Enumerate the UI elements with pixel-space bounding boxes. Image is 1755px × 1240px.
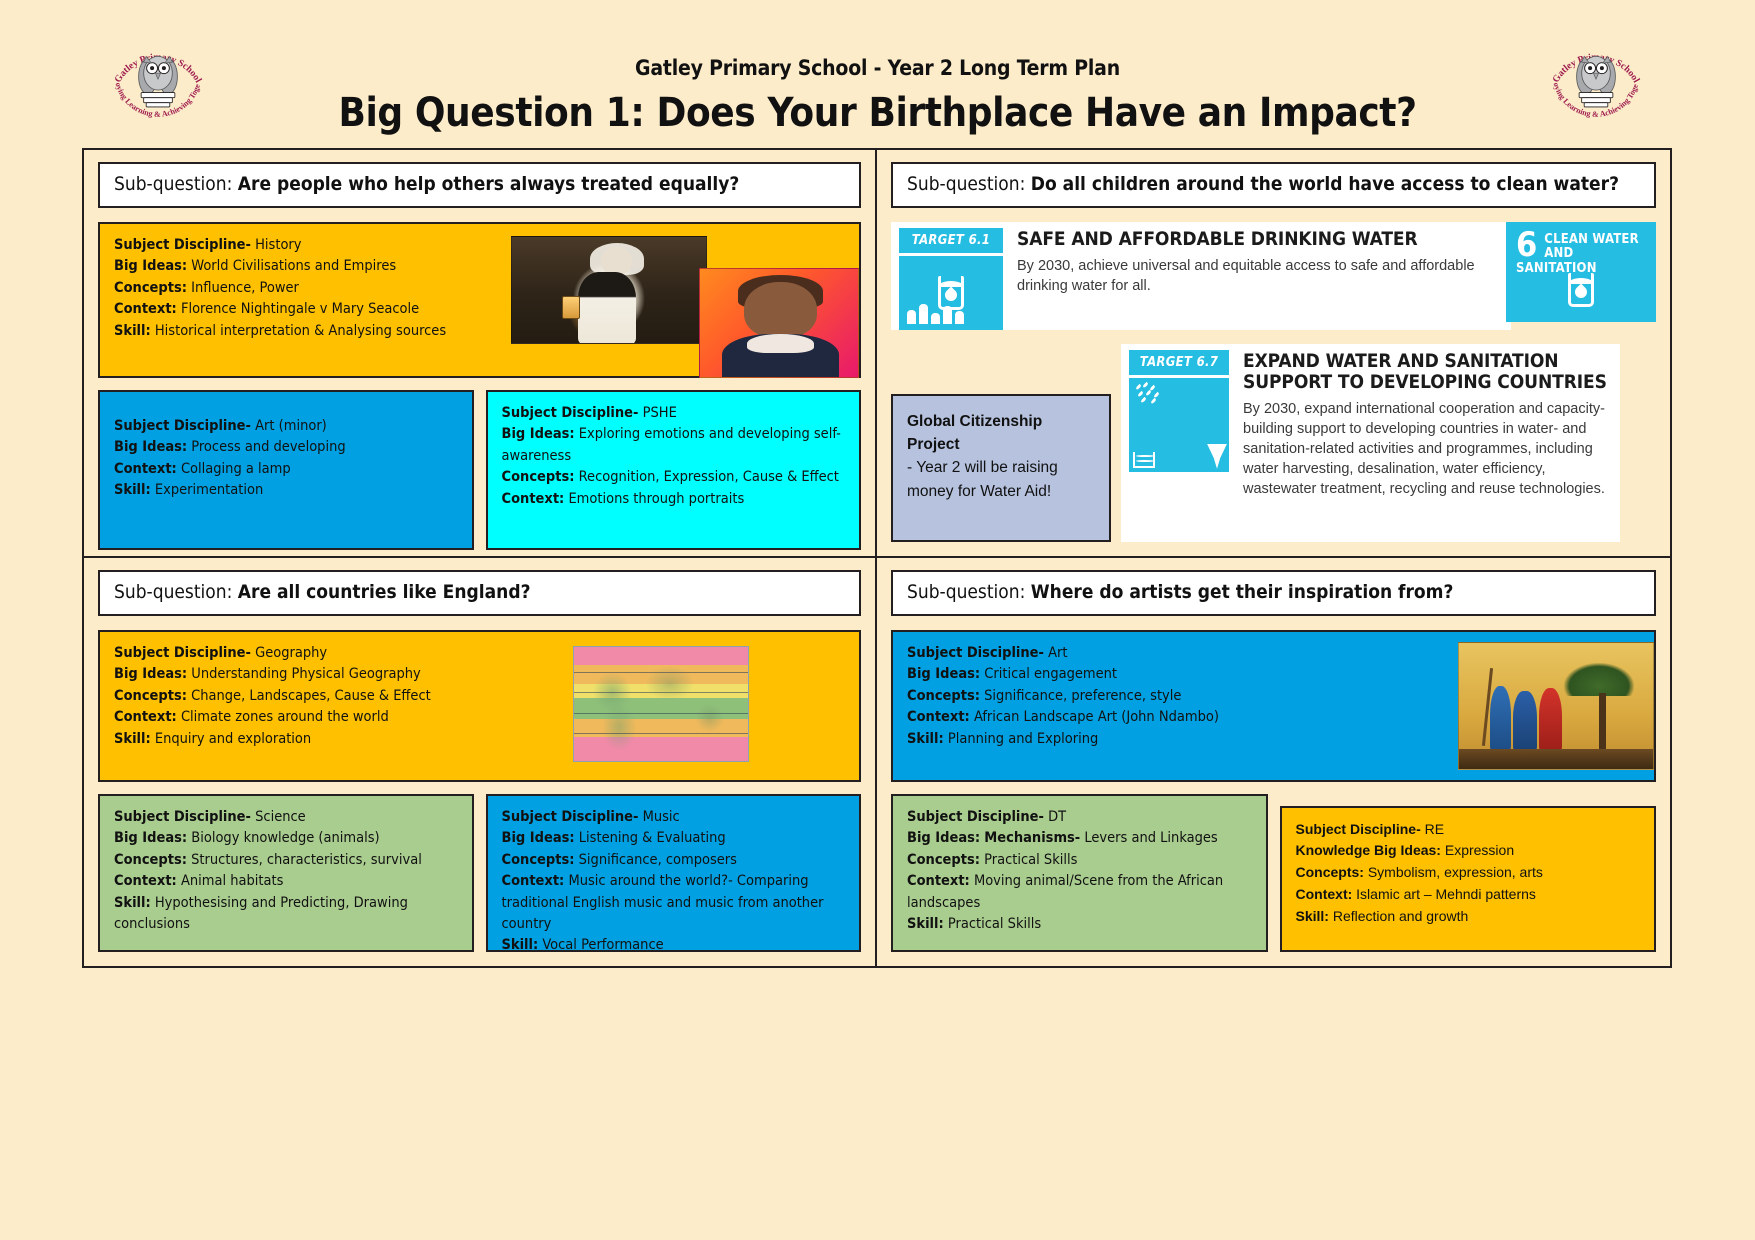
- gcp-title: Global Citizenship Project: [907, 410, 1095, 457]
- field-label-subject: Subject Discipline-: [114, 237, 251, 253]
- dt-skill: Practical Skills: [948, 916, 1041, 932]
- gcp-line-2: money for Water Aid!: [907, 480, 1095, 503]
- music-skill: Vocal Performance: [542, 937, 663, 953]
- subquestion-text: Where do artists get their inspiration f…: [1031, 581, 1454, 603]
- field-label-concepts: Concepts:: [502, 852, 575, 868]
- target-6-7-tile: TARGET 6.7: [1121, 344, 1229, 542]
- sdg-goal-number: 6: [1516, 231, 1537, 260]
- field-label-subject: Subject Discipline-: [114, 418, 251, 434]
- subject-card-geography: Subject Discipline- Geography Big Ideas:…: [98, 630, 861, 782]
- field-label-big-ideas: Big Ideas:: [114, 439, 187, 455]
- subquestion-text: Are people who help others always treate…: [238, 173, 740, 195]
- art-concepts: Significance, preference, style: [984, 688, 1181, 704]
- history-skill: Historical interpretation & Analysing so…: [155, 323, 446, 339]
- target-6-1-heading: SAFE AND AFFORDABLE DRINKING WATER: [1017, 229, 1501, 250]
- field-label-subject: Subject Discipline-: [502, 809, 639, 825]
- subquestion-label: Sub-question:: [114, 581, 232, 603]
- target-6-7-body: By 2030, expand international cooperatio…: [1243, 399, 1608, 499]
- subject-card-re: Subject Discipline- RE Knowledge Big Ide…: [1280, 806, 1657, 952]
- field-label-big-ideas: Big Ideas:: [502, 426, 575, 442]
- subject-card-history: Subject Discipline- History Big Ideas: W…: [98, 222, 861, 378]
- target-6-7-tag: TARGET 6.7: [1129, 350, 1229, 375]
- subquestion-label: Sub-question:: [114, 173, 232, 195]
- science-context: Animal habitats: [181, 873, 283, 889]
- field-label-concepts: Concepts:: [907, 852, 980, 868]
- subject-card-pshe: Subject Discipline- PSHE Big Ideas: Expl…: [486, 390, 862, 550]
- field-label-concepts: Concepts:: [502, 469, 575, 485]
- field-label-skill: Skill:: [114, 895, 151, 911]
- geography-skill: Enquiry and exploration: [155, 731, 311, 747]
- sdg-goal-6-badge: 6 CLEAN WATER AND SANITATION: [1506, 222, 1656, 322]
- field-label-context: Context:: [114, 709, 177, 725]
- re-concepts: Symbolism, expression, arts: [1368, 864, 1543, 880]
- music-big-ideas: Listening & Evaluating: [579, 830, 726, 846]
- subject-card-art: Subject Discipline- Art Big Ideas: Criti…: [891, 630, 1656, 782]
- field-label-skill: Skill:: [114, 482, 151, 498]
- history-concepts: Influence, Power: [191, 280, 299, 296]
- art-context: African Landscape Art (John Ndambo): [974, 709, 1219, 725]
- field-label-subject: Subject Discipline-: [502, 405, 639, 421]
- field-label-big-ideas: Big Ideas:: [114, 666, 187, 682]
- field-label-big-ideas: Big Ideas:: [502, 830, 575, 846]
- quadrant-artist-inspiration: Sub-question: Where do artists get their…: [877, 558, 1670, 966]
- field-label-concepts: Concepts:: [1296, 864, 1364, 880]
- music-concepts: Significance, composers: [579, 852, 737, 868]
- science-big-ideas: Biology knowledge (animals): [191, 830, 379, 846]
- geography-concepts: Change, Landscapes, Cause & Effect: [191, 688, 431, 704]
- history-context: Florence Nightingale v Mary Seacole: [181, 301, 419, 317]
- long-term-plan-page: Gatley Primary School Enjoying Learning …: [0, 0, 1755, 1240]
- subquestion-banner: Sub-question: Are people who help others…: [98, 162, 861, 208]
- target-6-1-tile: TARGET 6.1: [891, 222, 1003, 330]
- global-citizenship-project-box: Global Citizenship Project - Year 2 will…: [891, 394, 1111, 542]
- geography-big-ideas: Understanding Physical Geography: [191, 666, 421, 682]
- field-label-big-ideas: Big Ideas:: [114, 830, 187, 846]
- field-label-context: Context:: [502, 873, 565, 889]
- field-label-big-ideas: Big Ideas:: [114, 258, 187, 274]
- science-skill: Hypothesising and Predicting, Drawing co…: [114, 895, 408, 932]
- page-header: Gatley Primary School Enjoying Learning …: [0, 0, 1755, 152]
- subquestion-banner: Sub-question: Are all countries like Eng…: [98, 570, 861, 616]
- quadrant-countries-like-england: Sub-question: Are all countries like Eng…: [84, 558, 877, 966]
- art-minor-subject: Art (minor): [255, 418, 327, 434]
- art-minor-context: Collaging a lamp: [181, 461, 291, 477]
- dt-big-ideas: Levers and Linkages: [1084, 830, 1217, 846]
- school-logo-left: Gatley Primary School Enjoying Learning …: [90, 26, 226, 144]
- sdg-target-6-7-block: TARGET 6.7 EXPAND WATER AND S: [1121, 344, 1620, 542]
- field-label-subject: Subject Discipline-: [114, 809, 251, 825]
- field-label-concepts: Concepts:: [114, 688, 187, 704]
- field-label-big-ideas: Big Ideas:: [907, 666, 980, 682]
- re-subject: RE: [1425, 821, 1444, 837]
- geography-context: Climate zones around the world: [181, 709, 389, 725]
- science-subject: Science: [255, 809, 306, 825]
- art-minor-skill: Experimentation: [155, 482, 263, 498]
- sdg-target-6-1-block: TARGET 6.1 SAFE AND AFFORDABLE DRINKING …: [891, 222, 1511, 330]
- field-label-subject: Subject Discipline-: [907, 809, 1044, 825]
- field-label-context: Context:: [114, 461, 177, 477]
- art-subject: Art: [1048, 645, 1067, 661]
- field-label-concepts: Concepts:: [907, 688, 980, 704]
- subquestion-text: Are all countries like England?: [238, 581, 531, 603]
- dt-subject: DT: [1048, 809, 1066, 825]
- gcp-line-1: - Year 2 will be raising: [907, 456, 1095, 479]
- field-label-concepts: Concepts:: [114, 280, 187, 296]
- art-skill: Planning and Exploring: [948, 731, 1098, 747]
- people-icon: [907, 298, 967, 324]
- field-label-subject: Subject Discipline-: [907, 645, 1044, 661]
- geography-subject: Geography: [255, 645, 327, 661]
- dt-concepts: Practical Skills: [984, 852, 1077, 868]
- header-titles: Gatley Primary School - Year 2 Long Term…: [300, 56, 1455, 136]
- music-subject: Music: [643, 809, 680, 825]
- plan-grid: Sub-question: Are people who help others…: [82, 148, 1672, 968]
- field-label-skill: Skill:: [907, 916, 944, 932]
- subject-card-music: Subject Discipline- Music Big Ideas: Lis…: [486, 794, 862, 952]
- art-big-ideas: Critical engagement: [984, 666, 1117, 682]
- re-knowledge-big-ideas: Expression: [1445, 842, 1514, 858]
- field-label-context: Context:: [114, 873, 177, 889]
- sdg-panel: TARGET 6.1 SAFE AND AFFORDABLE DRINKING …: [891, 222, 1656, 552]
- subquestion-banner: Sub-question: Do all children around the…: [891, 162, 1656, 208]
- subquestion-label: Sub-question:: [907, 173, 1025, 195]
- quadrant-clean-water: Sub-question: Do all children around the…: [877, 150, 1670, 558]
- subquestion-text: Do all children around the world have ac…: [1031, 173, 1619, 195]
- field-label-skill: Skill:: [907, 731, 944, 747]
- field-label-skill: Skill:: [1296, 908, 1329, 924]
- field-label-knowledge-big-ideas: Knowledge Big Ideas:: [1296, 842, 1441, 858]
- dt-mechanisms-label: Mechanisms-: [984, 830, 1080, 846]
- subject-card-dt: Subject Discipline- DT Big Ideas: Mechan…: [891, 794, 1268, 952]
- school-plan-subtitle: Gatley Primary School - Year 2 Long Term…: [300, 56, 1455, 80]
- page-title: Big Question 1: Does Your Birthplace Hav…: [300, 90, 1455, 136]
- science-concepts: Structures, characteristics, survival: [191, 852, 422, 868]
- re-context: Islamic art – Mehndi patterns: [1356, 886, 1536, 902]
- field-label-context: Context:: [1296, 886, 1353, 902]
- field-label-context: Context:: [907, 873, 970, 889]
- re-skill: Reflection and growth: [1333, 908, 1468, 924]
- subject-card-science: Subject Discipline- Science Big Ideas: B…: [98, 794, 474, 952]
- drinking-water-glass-icon: [899, 256, 1003, 330]
- target-6-1-body: By 2030, achieve universal and equitable…: [1017, 256, 1501, 296]
- pshe-subject: PSHE: [643, 405, 677, 421]
- field-label-skill: Skill:: [114, 731, 151, 747]
- field-label-context: Context:: [502, 491, 565, 507]
- field-label-big-ideas: Big Ideas:: [907, 830, 980, 846]
- history-big-ideas: World Civilisations and Empires: [191, 258, 396, 274]
- field-label-skill: Skill:: [114, 323, 151, 339]
- water-harvesting-icon: [1129, 378, 1229, 472]
- school-logo-right: Gatley Primary School Enjoying Learning …: [1528, 26, 1664, 144]
- field-label-skill: Skill:: [502, 937, 539, 953]
- clean-water-glass-icon: [1560, 269, 1602, 311]
- target-6-1-tag: TARGET 6.1: [899, 228, 1003, 253]
- subject-card-art-minor: Subject Discipline- Art (minor) Big Idea…: [98, 390, 474, 550]
- subquestion-banner: Sub-question: Where do artists get their…: [891, 570, 1656, 616]
- field-label-subject: Subject Discipline-: [1296, 821, 1421, 837]
- history-subject: History: [255, 237, 301, 253]
- field-label-concepts: Concepts:: [114, 852, 187, 868]
- field-label-context: Context:: [907, 709, 970, 725]
- subquestion-label: Sub-question:: [907, 581, 1025, 603]
- field-label-subject: Subject Discipline-: [114, 645, 251, 661]
- pshe-context: Emotions through portraits: [568, 491, 744, 507]
- target-6-7-heading: EXPAND WATER AND SANITATION SUPPORT TO D…: [1243, 351, 1608, 393]
- art-minor-big-ideas: Process and developing: [191, 439, 345, 455]
- pshe-concepts: Recognition, Expression, Cause & Effect: [579, 469, 839, 485]
- quadrant-help-others: Sub-question: Are people who help others…: [84, 150, 877, 558]
- field-label-context: Context:: [114, 301, 177, 317]
